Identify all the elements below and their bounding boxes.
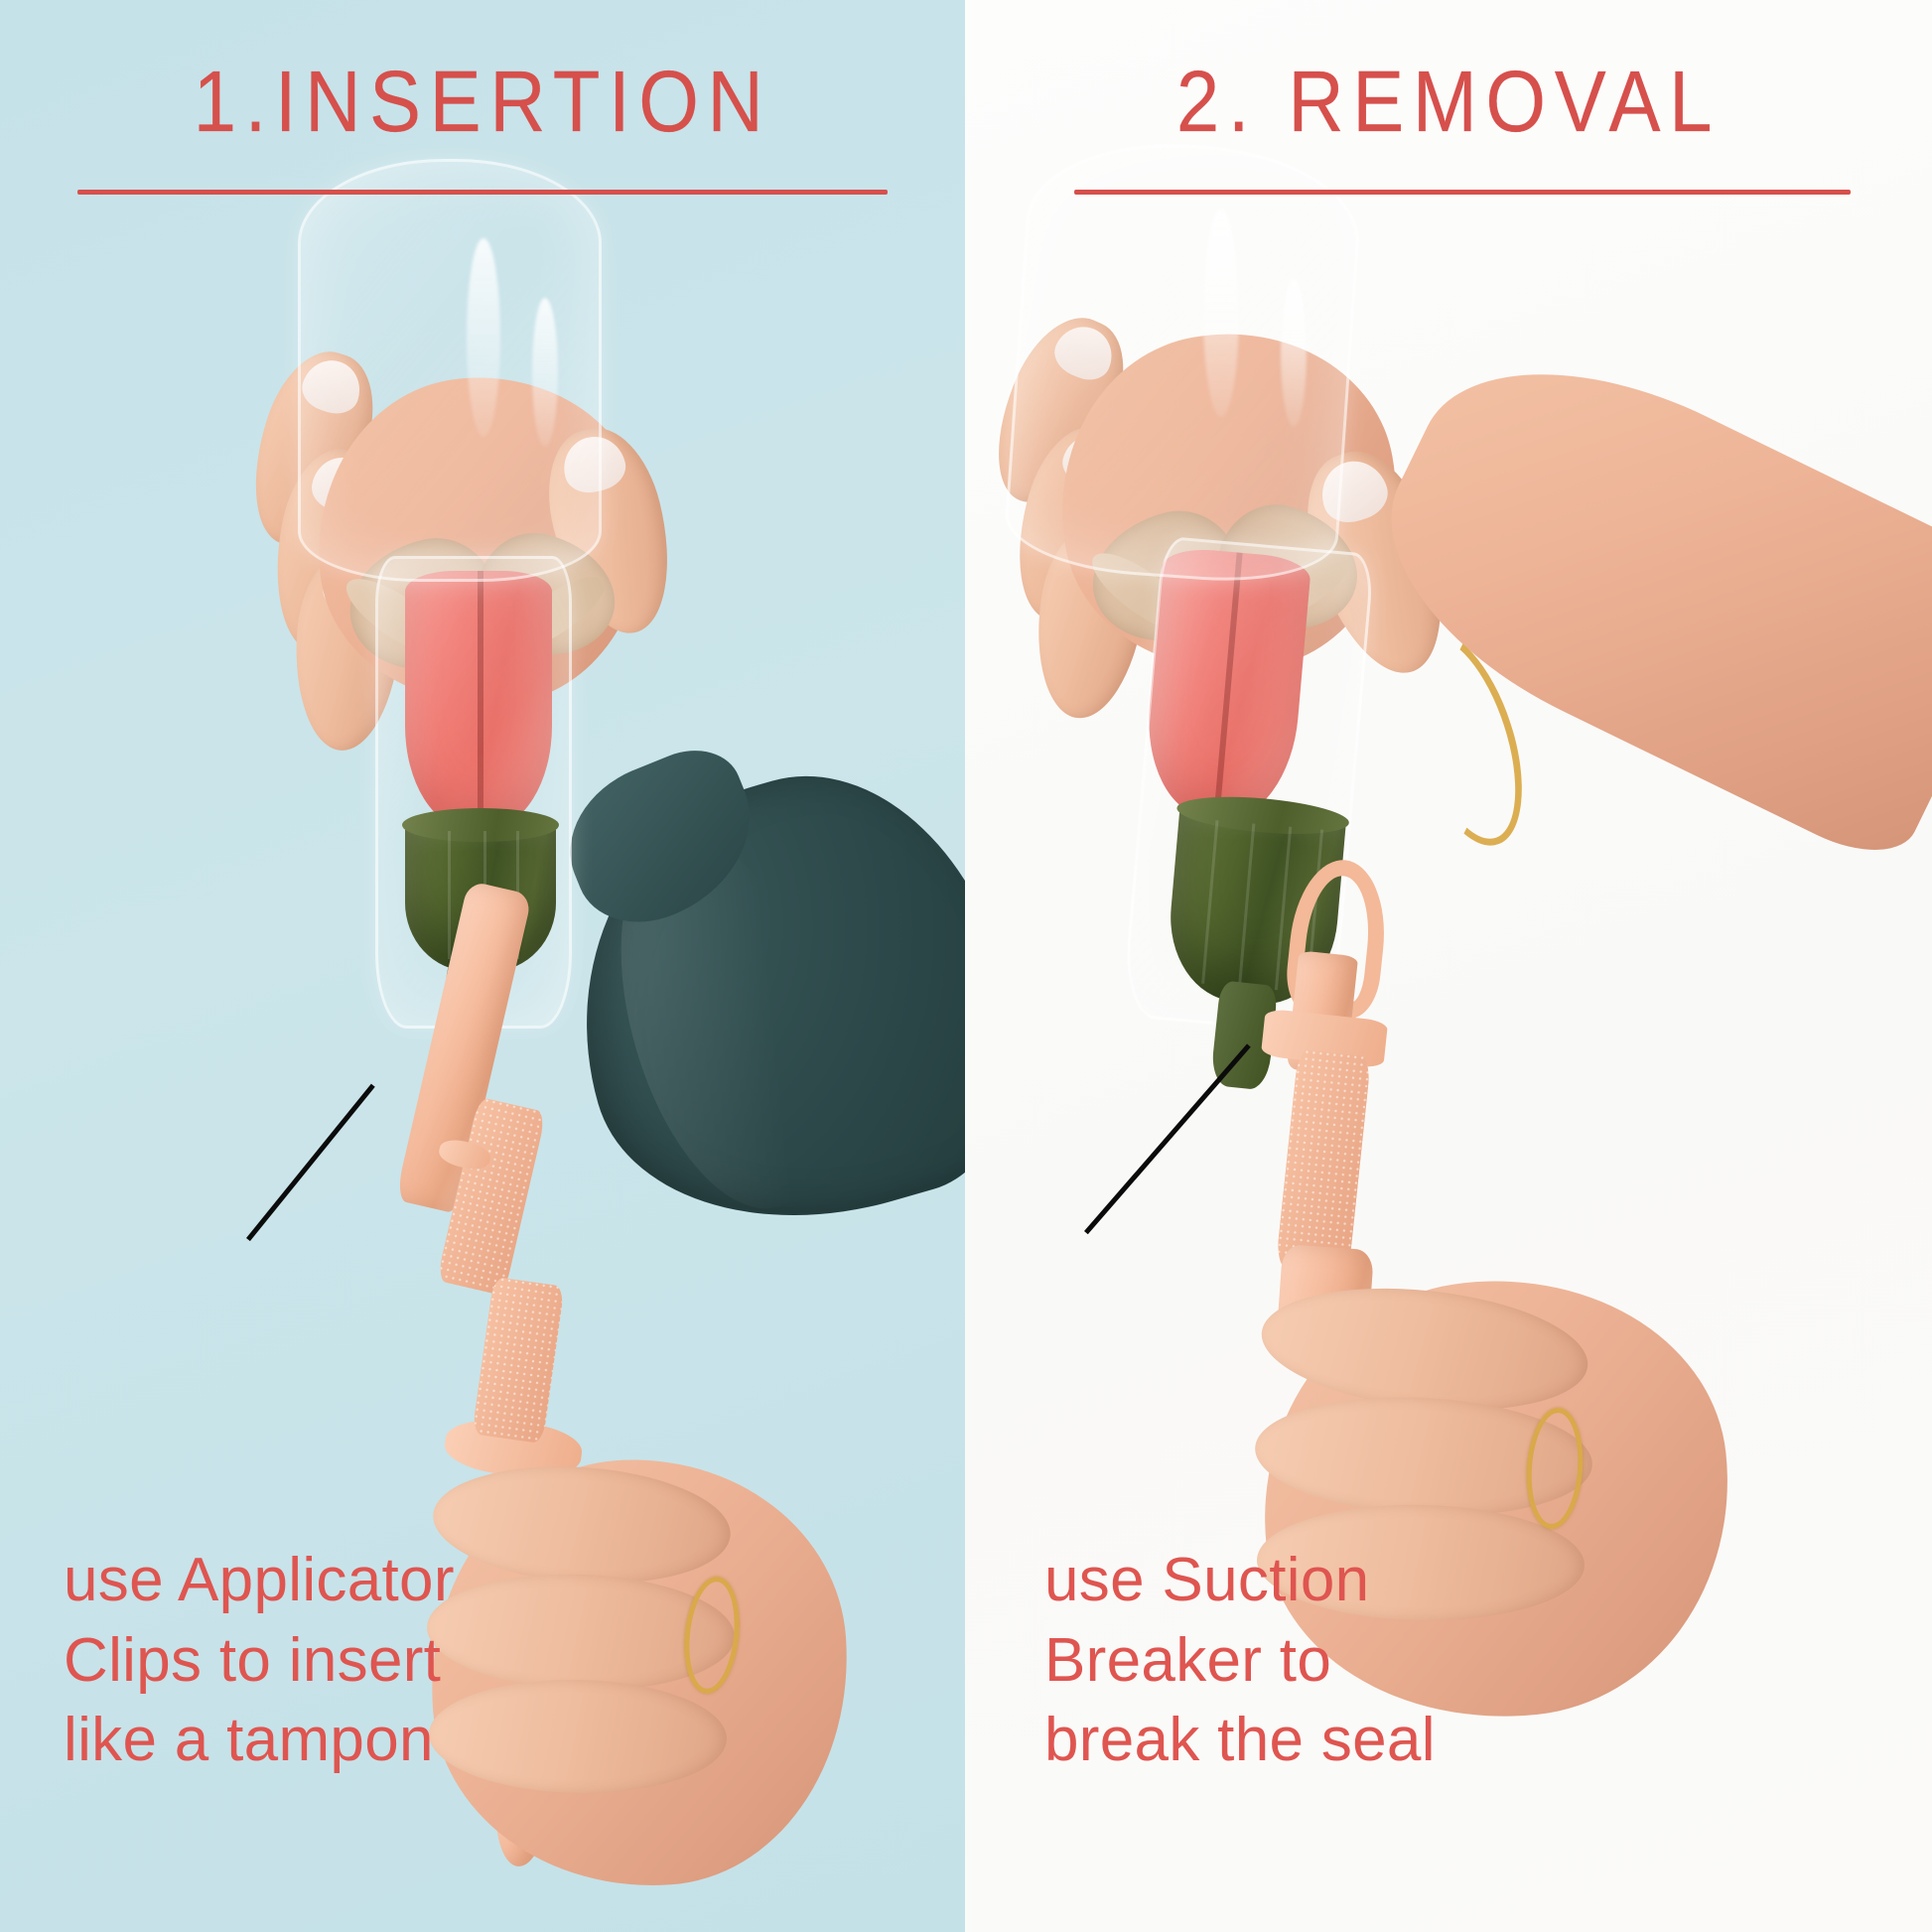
cup-ridge [448,831,451,959]
insertion-heading: 1.INSERTION [0,58,965,195]
leader-line-suction-breaker [1084,1043,1251,1234]
title-underline [1074,190,1851,195]
instructional-graphic: 1.INSERTION use Applicator Clips to inse… [0,0,1932,1932]
removal-heading: 2. REMOVAL [965,58,1932,195]
leader-line-applicator [246,1084,375,1242]
cup-ridge [1201,820,1218,984]
panel-title: 1.INSERTION [0,58,965,144]
shell-highlight [467,238,500,437]
applicator-lower-grip [472,1277,565,1444]
shell-highlight [1281,278,1307,427]
cup-ridge [1238,823,1255,987]
shell-highlight [1203,208,1239,417]
cup-rim [402,808,559,842]
shell-highlight [532,298,558,447]
suction-breaker-grip [1276,1049,1372,1275]
insertion-caption: use Applicator Clips to insert like a ta… [64,1541,455,1781]
model-shell-upper [1002,134,1365,589]
removal-caption: use Suction Breaker to break the seal [1044,1541,1436,1781]
title-underline [77,190,888,195]
panel-removal: 2. REMOVAL use Suction Breaker to break … [965,0,1932,1932]
panel-title: 2. REMOVAL [965,58,1932,144]
panel-insertion: 1.INSERTION use Applicator Clips to inse… [0,0,965,1932]
